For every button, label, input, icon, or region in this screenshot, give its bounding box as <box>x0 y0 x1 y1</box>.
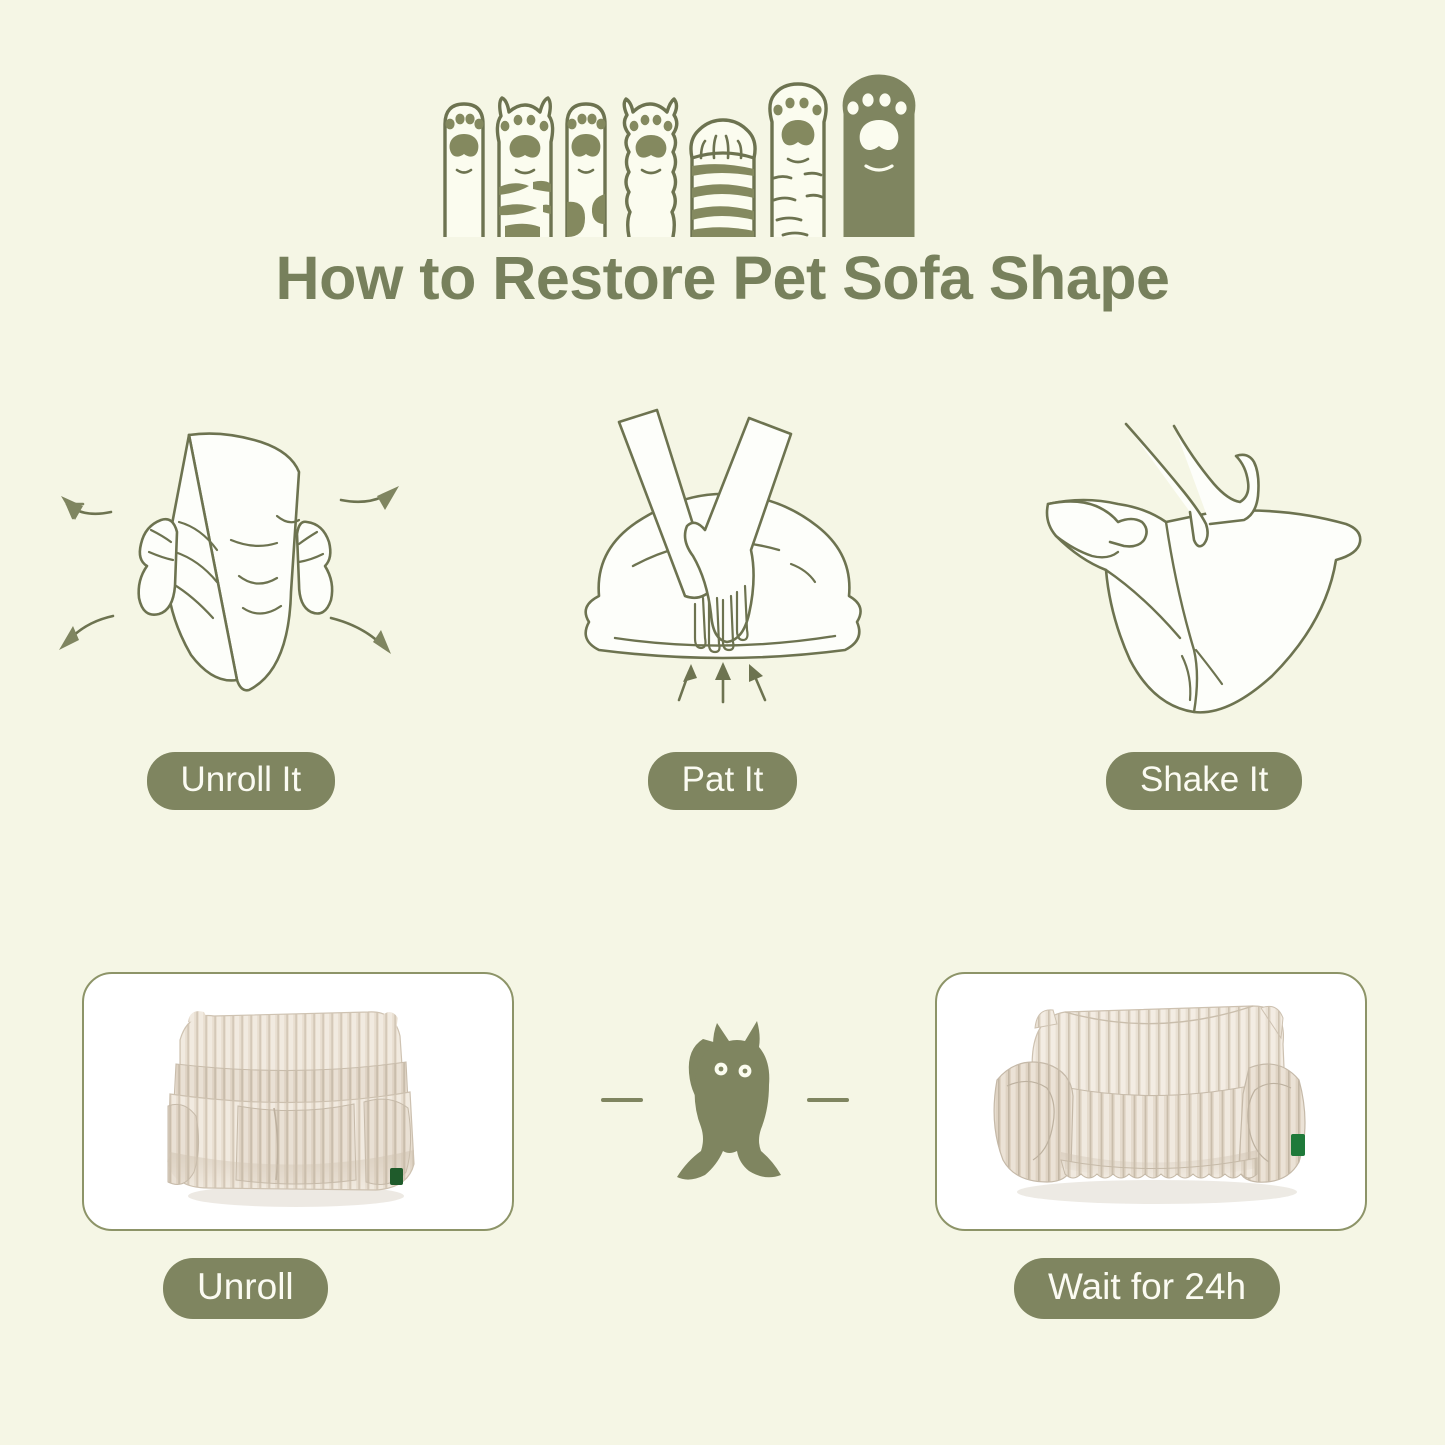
arrow-up-2 <box>715 662 731 702</box>
brand-tag-icon <box>1291 1134 1305 1156</box>
page-title: How to Restore Pet Sofa Shape <box>0 246 1445 310</box>
paw-solid <box>844 76 914 237</box>
before-photo-card <box>82 972 514 1231</box>
hands-shaking-cushion-illustration <box>1014 400 1394 730</box>
connector-dash-left <box>601 1098 643 1102</box>
step-unroll-it: Unroll It <box>0 400 482 840</box>
arrow-up-3 <box>749 664 765 700</box>
cat-paws-row-icon <box>433 62 1013 237</box>
paw-mitten-zebra <box>690 120 754 237</box>
comparison-row <box>0 972 1445 1232</box>
before-label-unroll: Unroll <box>163 1258 328 1319</box>
paw-patched <box>567 104 606 237</box>
comparison-connector <box>560 990 890 1210</box>
hands-patting-cushion-illustration <box>553 400 893 730</box>
bottom-labels: Unroll Wait for 24h <box>0 1258 1445 1328</box>
step-illustration-pat <box>553 400 893 730</box>
connector-dash-right <box>807 1098 849 1102</box>
arrow-down-right <box>331 618 391 654</box>
paw-tall-dashes <box>769 84 825 237</box>
paw-furry-claws <box>624 99 677 237</box>
step-shake-it: Shake It <box>963 400 1445 840</box>
steps-row: Unroll It <box>0 400 1445 840</box>
arrow-up-left <box>61 496 111 520</box>
arrow-up-1 <box>679 664 697 700</box>
step-illustration-unroll <box>41 400 441 730</box>
hands-unrolling-cushion-illustration <box>41 400 441 730</box>
sitting-cat-silhouette-icon <box>665 1005 785 1195</box>
step-label-unroll-it: Unroll It <box>147 752 336 810</box>
step-label-shake-it: Shake It <box>1106 752 1302 810</box>
brand-tag-icon <box>390 1168 403 1185</box>
after-label-wait-24h: Wait for 24h <box>1014 1258 1280 1319</box>
expanded-pet-sofa-photo <box>961 984 1341 1219</box>
paw-striped-claws <box>497 98 552 237</box>
step-illustration-shake <box>1014 400 1394 730</box>
paw-banner <box>0 62 1445 237</box>
infographic-page: How to Restore Pet Sofa Shape <box>0 0 1445 1445</box>
after-photo-card <box>935 972 1367 1231</box>
paw-plain <box>445 104 484 237</box>
step-label-pat-it: Pat It <box>648 752 798 810</box>
arrow-down-left <box>59 616 113 650</box>
arrow-up-right <box>341 486 399 510</box>
compressed-pet-bed-photo <box>118 982 478 1222</box>
step-pat-it: Pat It <box>482 400 964 840</box>
